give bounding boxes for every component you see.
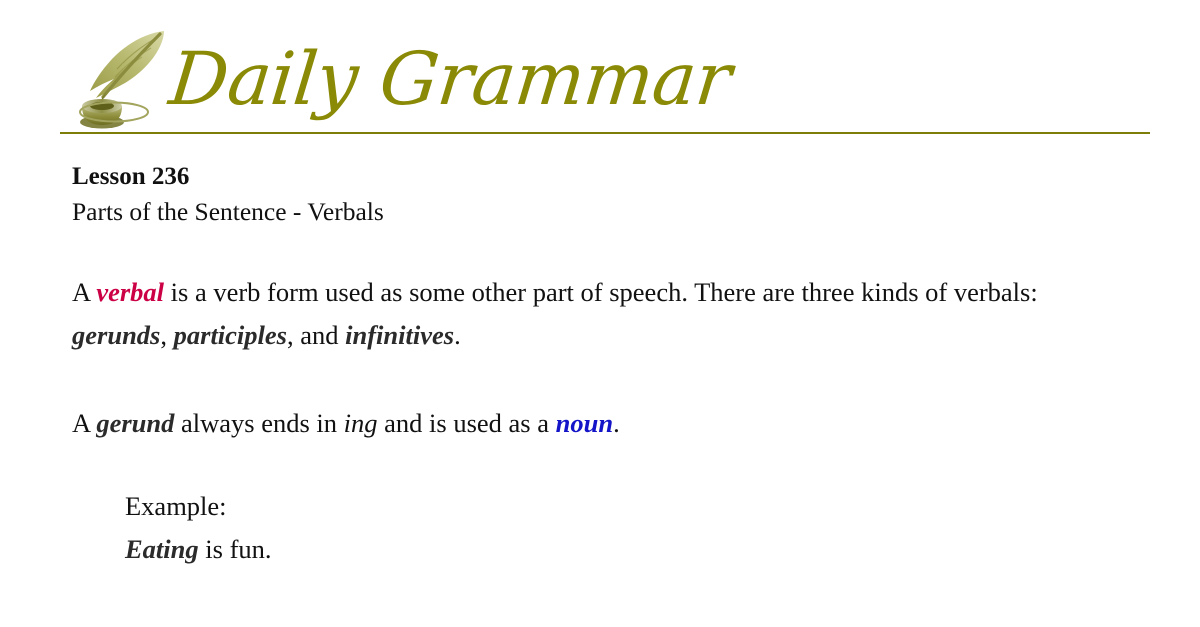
suffix-ing: ing bbox=[344, 408, 378, 438]
site-logo-text: Daily Grammar bbox=[166, 43, 734, 116]
example-label: Example: bbox=[125, 485, 1132, 528]
p2-text-c: and is used as a bbox=[378, 408, 556, 438]
term-infinitives: infinitives bbox=[345, 320, 454, 350]
site-header: Daily Grammar bbox=[0, 0, 1200, 137]
example-sentence: Eating is fun. bbox=[125, 528, 1132, 571]
verbal-definition-paragraph: A verbal is a verb form used as some oth… bbox=[72, 271, 1132, 357]
term-gerunds: gerunds bbox=[72, 320, 160, 350]
example-subject: Eating bbox=[125, 534, 199, 564]
gerund-definition-paragraph: A gerund always ends in ing and is used … bbox=[72, 402, 1132, 445]
p1-sep-2: , and bbox=[287, 320, 345, 350]
lesson-number: Lesson 236 bbox=[72, 160, 1132, 194]
p2-text-a: A bbox=[72, 408, 96, 438]
p2-text-end: . bbox=[613, 408, 620, 438]
site-logo[interactable]: Daily Grammar bbox=[68, 22, 730, 130]
lesson-page: Daily Grammar Lesson 236 Parts of the Se… bbox=[0, 0, 1200, 627]
p1-text-b: is a verb form used as some other part o… bbox=[164, 277, 1038, 307]
quill-pen-inkwell-icon bbox=[68, 26, 176, 130]
lesson-content: Lesson 236 Parts of the Sentence - Verba… bbox=[72, 160, 1132, 571]
term-noun: noun bbox=[556, 408, 613, 438]
term-gerund: gerund bbox=[96, 408, 174, 438]
term-participles: participles bbox=[174, 320, 287, 350]
p1-sep-1: , bbox=[160, 320, 173, 350]
term-verbal: verbal bbox=[96, 277, 164, 307]
p1-text-end: . bbox=[454, 320, 461, 350]
example-rest: is fun. bbox=[199, 534, 272, 564]
example-block: Example: Eating is fun. bbox=[125, 485, 1132, 571]
p2-text-b: always ends in bbox=[174, 408, 343, 438]
p1-text-a: A bbox=[72, 277, 96, 307]
lesson-subtitle: Parts of the Sentence - Verbals bbox=[72, 194, 1132, 230]
header-divider bbox=[60, 132, 1150, 134]
